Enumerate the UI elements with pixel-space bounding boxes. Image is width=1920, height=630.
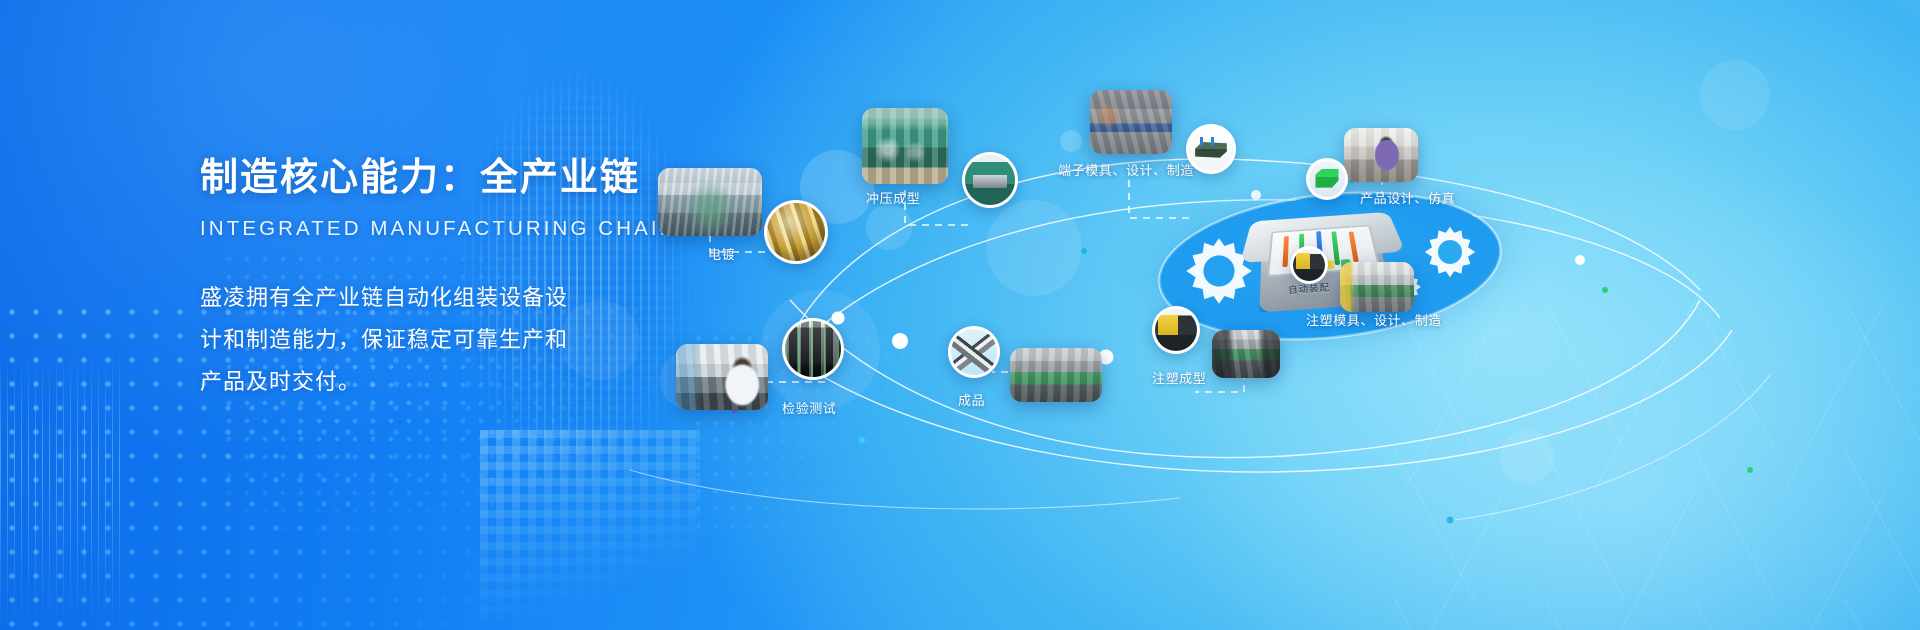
green-3d-model-icon[interactable]	[1306, 158, 1348, 200]
gear-icon	[1420, 222, 1480, 282]
node-label-plating: 电镀	[708, 244, 735, 263]
node-photo-stamping[interactable]	[862, 108, 948, 184]
node-label-injection-mold: 注塑模具、设计、制造	[1306, 310, 1442, 329]
node-photo-terminal-mold[interactable]	[1090, 90, 1172, 154]
banner-stage: 制造核心能力：全产业链 INTEGRATED MANUFACTURING CHA…	[0, 0, 1920, 630]
node-photo-finished[interactable]	[1010, 348, 1102, 402]
node-photo-injection[interactable]	[1212, 330, 1280, 378]
node-photo-inspection[interactable]	[676, 344, 768, 410]
finished-connector-icon[interactable]	[948, 326, 1000, 378]
node-photo-injection-mold[interactable]	[1340, 262, 1414, 312]
manufacturing-chain-diagram: 自动装配 电镀 冲压成型 端子模具、设计、制造 产品设计、仿真 注塑模具、设计、…	[0, 0, 1920, 630]
node-label-finished: 成品	[958, 390, 985, 409]
node-label-stamping: 冲压成型	[866, 188, 920, 207]
injection-machine-icon[interactable]	[1290, 246, 1328, 284]
node-photo-product-design[interactable]	[1344, 128, 1418, 182]
node-label-terminal-mold: 端子模具、设计、制造	[1058, 160, 1194, 179]
node-photo-plating[interactable]	[658, 168, 762, 236]
orbit-lines	[0, 0, 1920, 630]
test-rack-icon[interactable]	[782, 318, 844, 380]
node-label-inspection: 检验测试	[782, 398, 836, 417]
stamping-press-icon[interactable]	[962, 152, 1018, 208]
mold-fixture-icon[interactable]	[1186, 124, 1236, 174]
machine-circle-icon[interactable]	[1152, 306, 1200, 354]
node-label-injection: 注塑成型	[1152, 368, 1206, 387]
gold-plated-strip-icon[interactable]	[764, 200, 828, 264]
node-label-product-design: 产品设计、仿真	[1360, 188, 1455, 207]
